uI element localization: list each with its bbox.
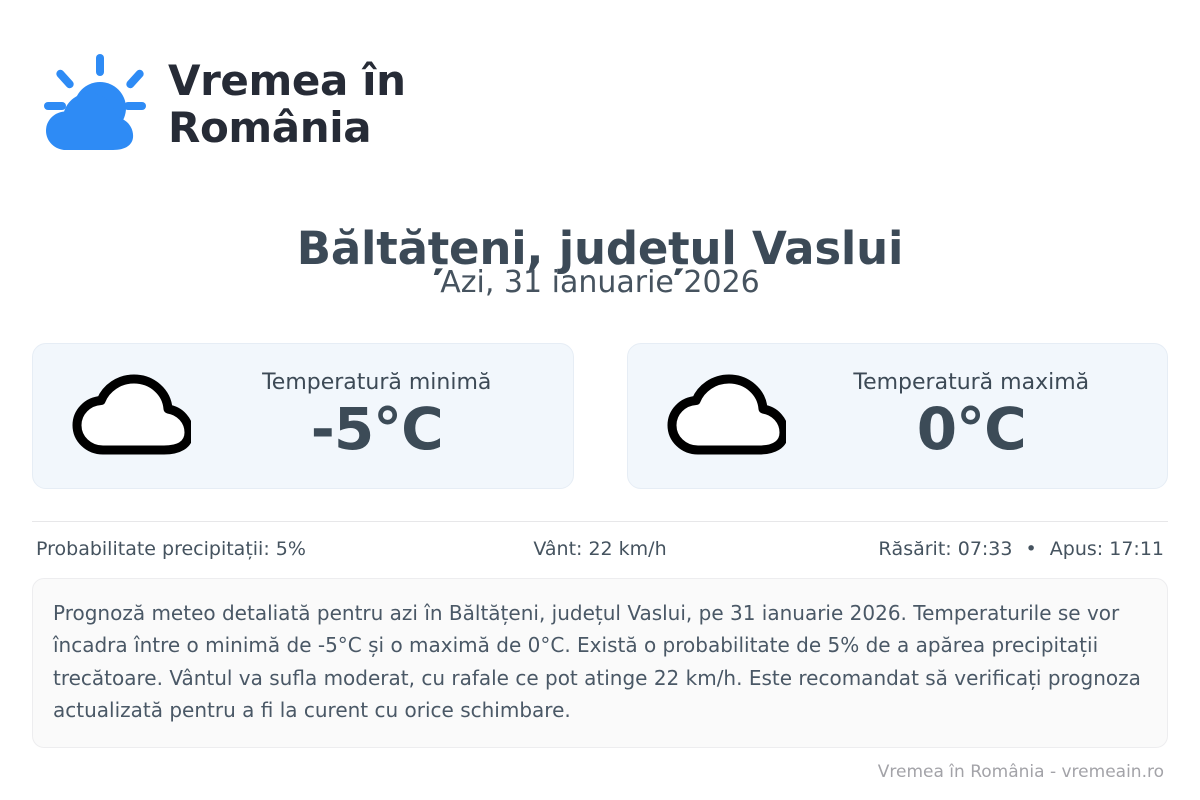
sunset-value: Apus: 17:11 [1050,538,1164,560]
cloud-icon [67,372,191,460]
page-subtitle: Azi, 31 ianuarie 2026 [0,265,1200,300]
temperature-max-card: Temperatură maximă 0°C [627,343,1169,489]
site-logo-text: Vremea în România [168,57,406,151]
temperature-min-card: Temperatură minimă -5°C [32,343,574,489]
sun-behind-cloud-icon [36,52,152,156]
temperature-min-label: Temperatură minimă [262,370,491,396]
weather-stats-row: Probabilitate precipitații: 5% Vânt: 22 … [36,538,1164,560]
sun-times-separator: • [1019,538,1044,560]
sunrise-value: Răsărit: 07:33 [878,538,1012,560]
temperature-min-body: Temperatură minimă -5°C [191,370,563,461]
wind-stat: Vânt: 22 km/h [412,538,788,560]
weather-page: Vremea în România Băltățeni, județul Vas… [0,0,1200,800]
temperature-max-body: Temperatură maximă 0°C [786,370,1158,461]
site-logo[interactable]: Vremea în România [36,52,406,156]
forecast-description: Prognoză meteo detaliată pentru azi în B… [32,578,1168,748]
temperature-max-label: Temperatură maximă [853,370,1089,396]
section-divider [32,521,1168,522]
sun-times-stat: Răsărit: 07:33 • Apus: 17:11 [788,538,1164,560]
precipitation-stat: Probabilitate precipitații: 5% [36,538,412,560]
cloud-icon [662,372,786,460]
temperature-max-value: 0°C [917,399,1026,460]
footer-credit: Vremea în România - vremeain.ro [878,762,1164,782]
temperature-min-value: -5°C [311,399,443,460]
temperature-cards: Temperatură minimă -5°C Temperatură maxi… [32,343,1168,489]
